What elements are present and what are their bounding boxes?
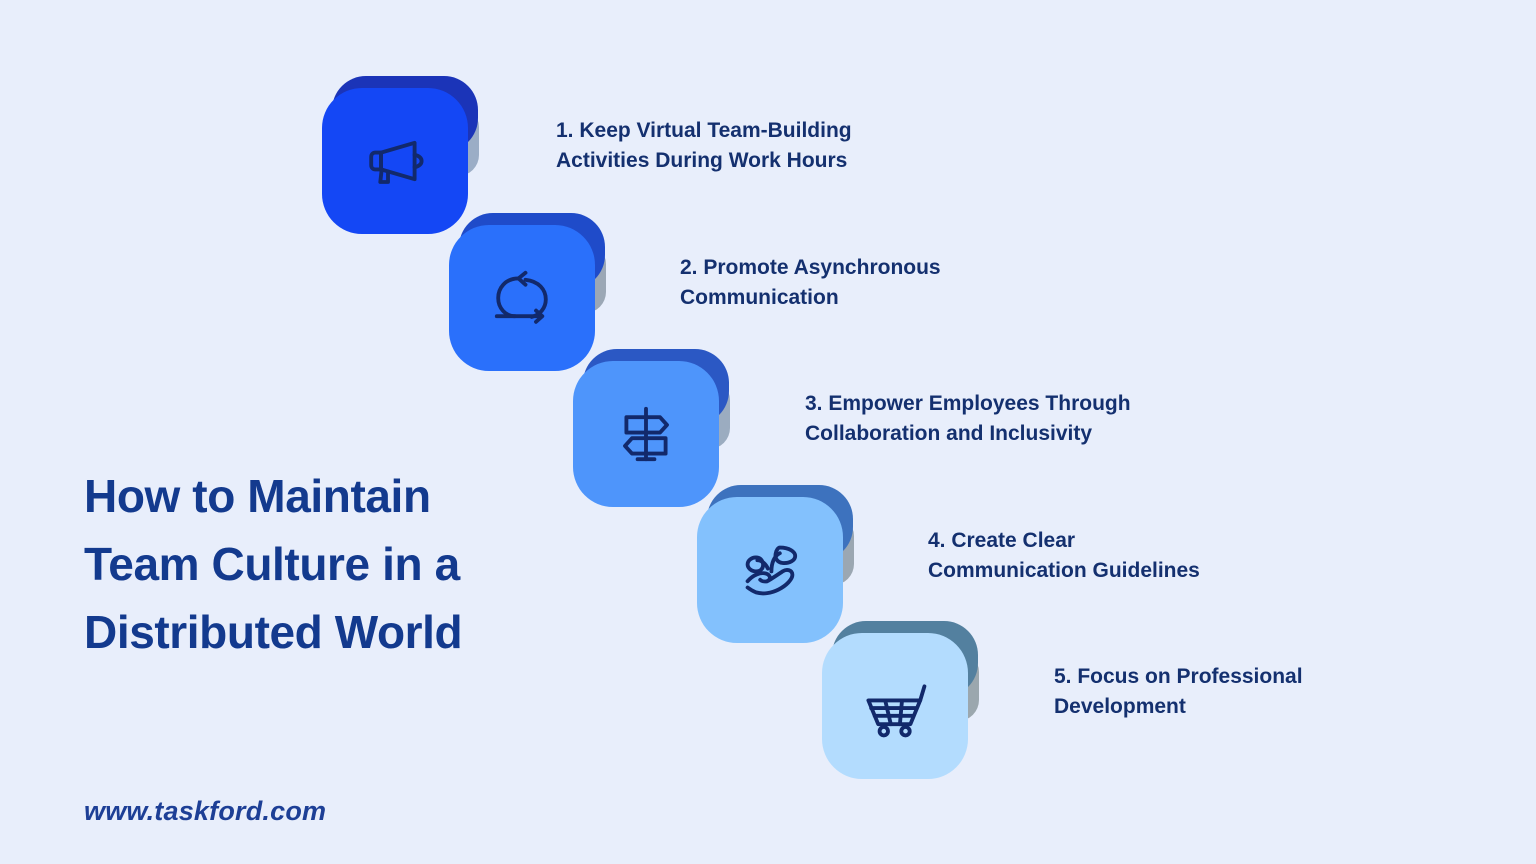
- step-label-4: 4. Create Clear Communication Guidelines: [928, 526, 1328, 587]
- step-label-5: 5. Focus on Professional Development: [1054, 662, 1454, 723]
- signpost-icon: [611, 399, 681, 469]
- step-label-3: 3. Empower Employees Through Collaborati…: [805, 389, 1245, 450]
- shopping-cart-icon: [860, 671, 930, 741]
- step-card-1[interactable]: [322, 88, 468, 234]
- agile-loop-icon: [487, 263, 557, 333]
- hand-plant-icon: [735, 535, 805, 605]
- card-tile-3: [573, 361, 719, 507]
- infographic-canvas: How to Maintain Team Culture in a Distri…: [0, 0, 1536, 864]
- step-card-2[interactable]: [449, 225, 595, 371]
- card-tile-2: [449, 225, 595, 371]
- page-title: How to Maintain Team Culture in a Distri…: [84, 462, 604, 666]
- card-tile-1: [322, 88, 468, 234]
- step-card-5[interactable]: [822, 633, 968, 779]
- step-label-1: 1. Keep Virtual Team-Building Activities…: [556, 116, 986, 177]
- step-card-4[interactable]: [697, 497, 843, 643]
- site-url[interactable]: www.taskford.com: [84, 796, 326, 827]
- step-label-2: 2. Promote Asynchronous Communication: [680, 253, 1080, 314]
- step-card-3[interactable]: [573, 361, 719, 507]
- megaphone-icon: [360, 126, 430, 196]
- card-tile-5: [822, 633, 968, 779]
- card-tile-4: [697, 497, 843, 643]
